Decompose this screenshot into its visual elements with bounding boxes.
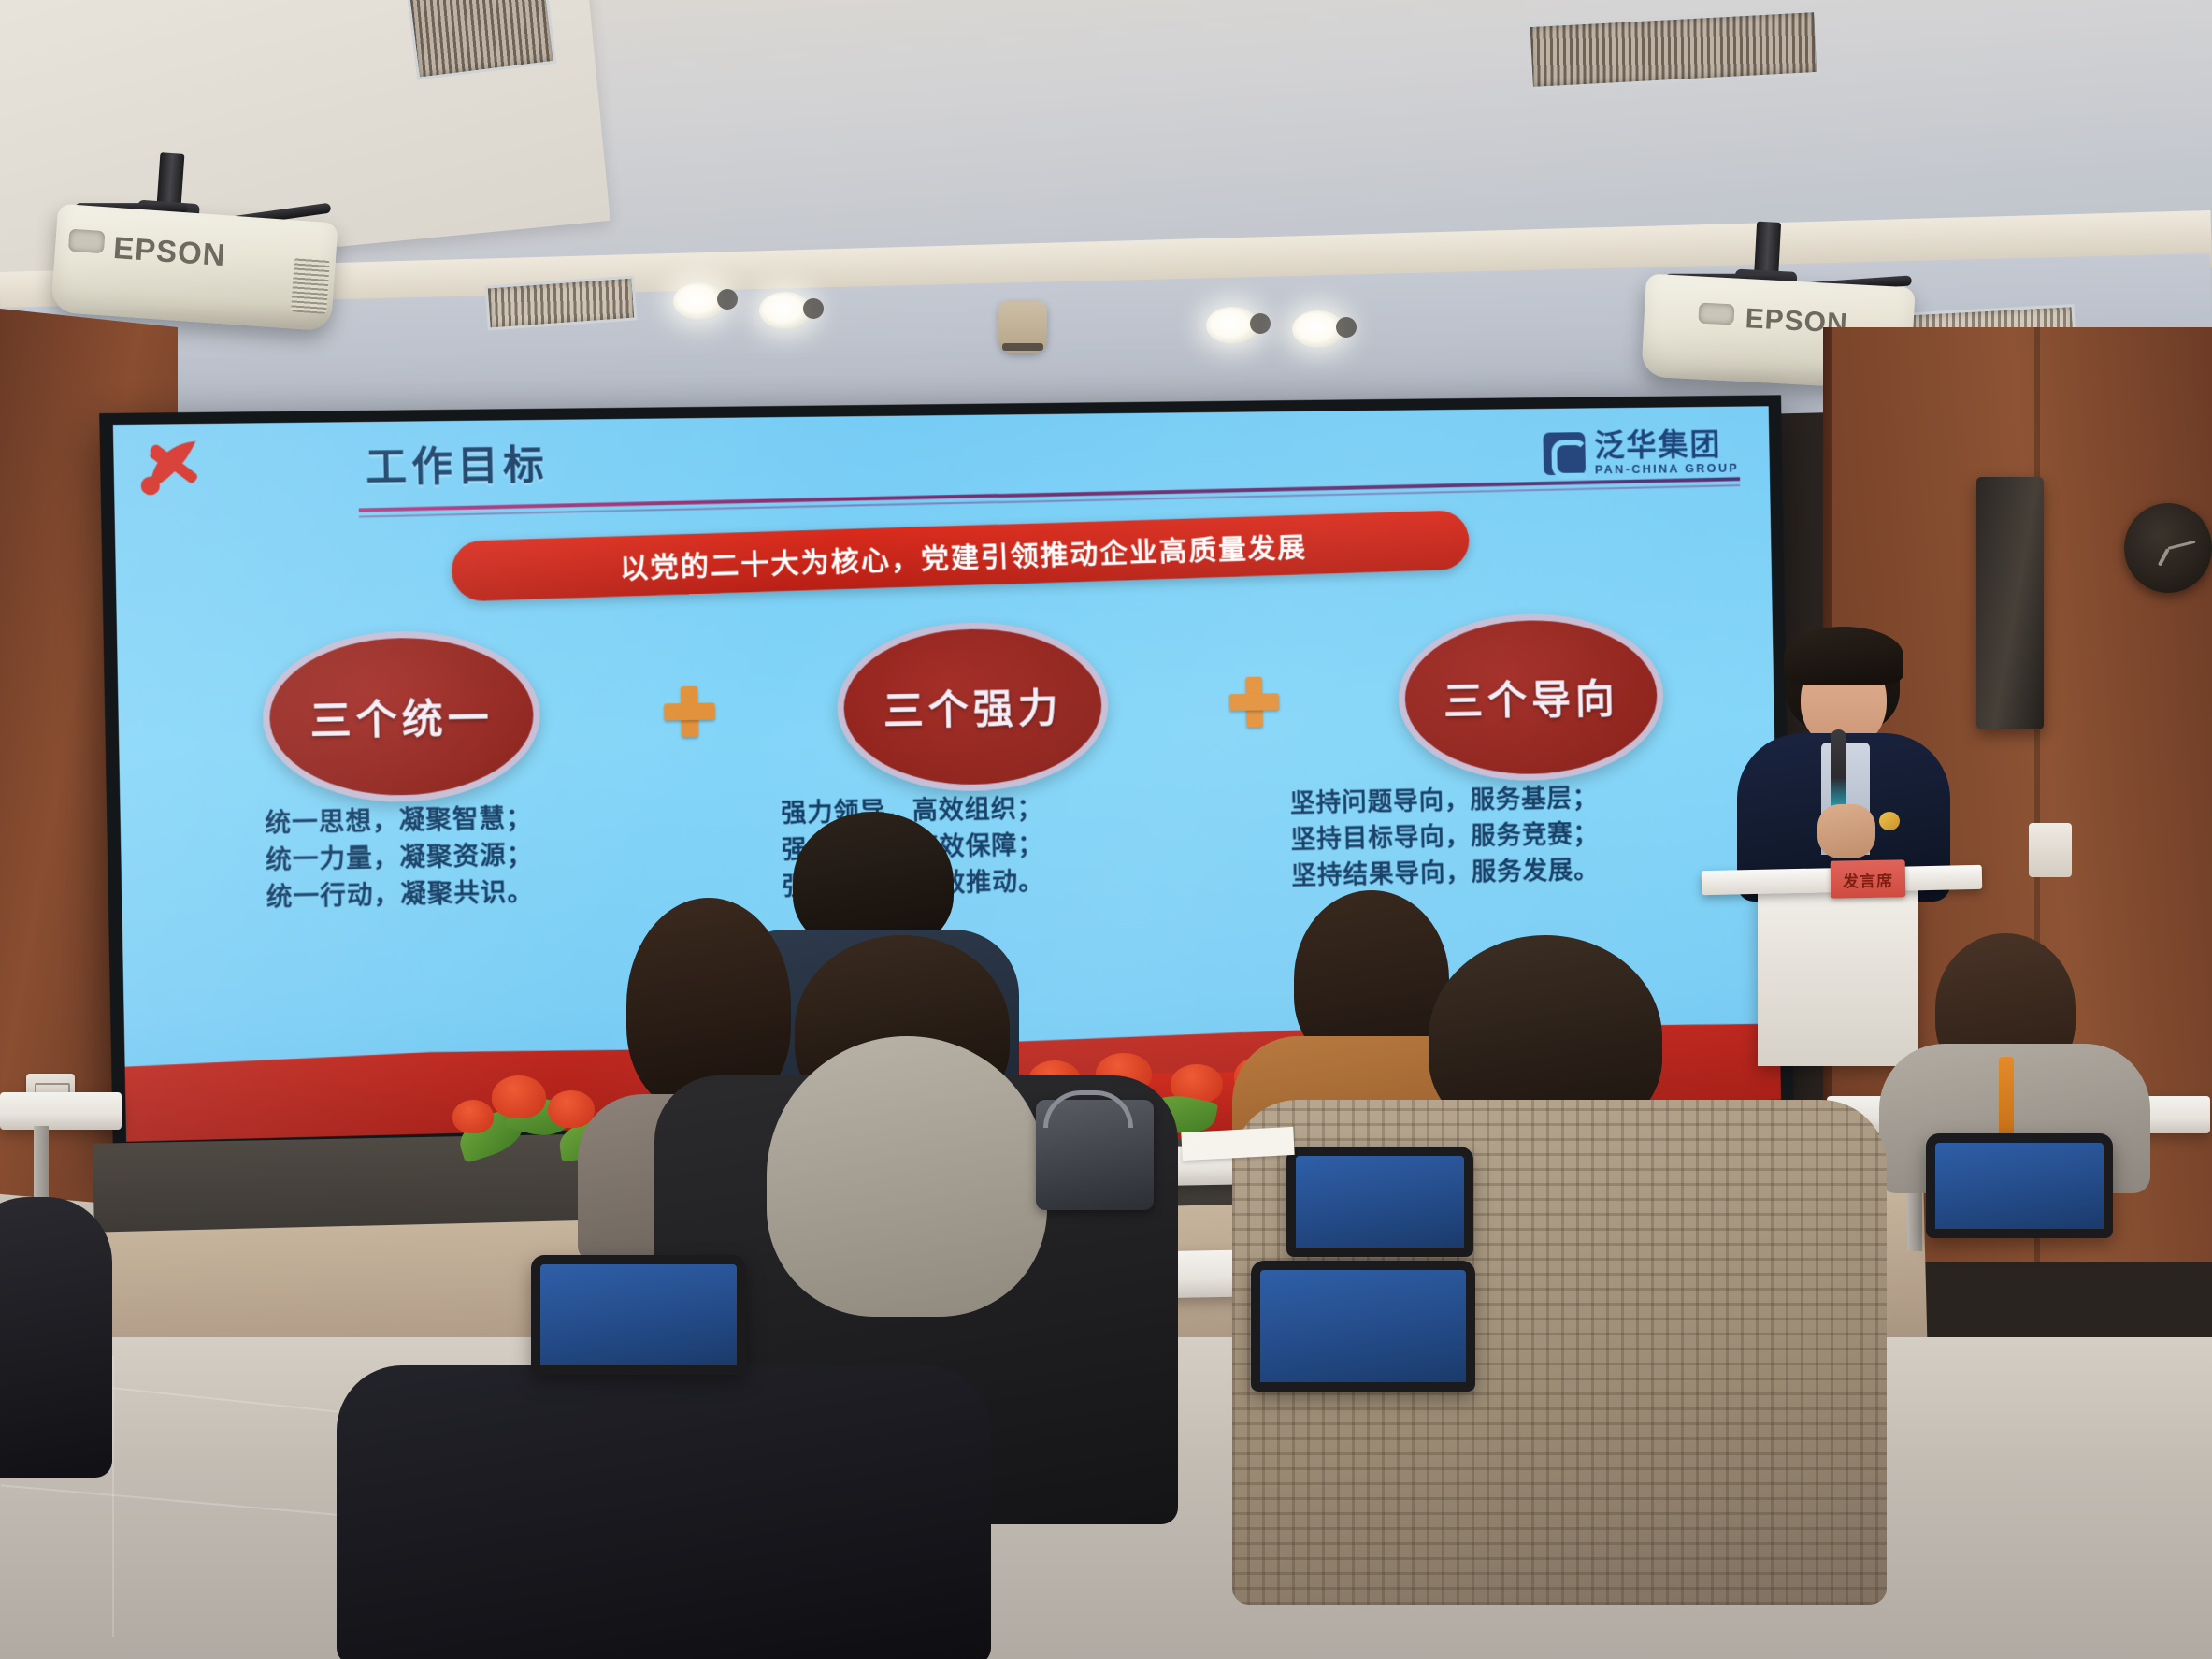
ceiling-vent — [1527, 9, 1819, 90]
lapel-badge-icon — [1879, 812, 1900, 830]
clock-hour-hand — [2158, 548, 2170, 567]
ceiling-spotlight — [673, 282, 725, 320]
podium-sign: 发言席 — [1831, 859, 1906, 898]
wall-clock-icon — [2124, 503, 2212, 593]
group-label: 三个统一 — [309, 685, 494, 747]
slide-ellipse-row: 三个统一 三个强力 三个导向 — [261, 603, 1664, 815]
clock-minute-hand — [2168, 541, 2196, 550]
slide-group-ellipse-1: 三个统一 — [262, 629, 542, 804]
detail-line: 坚持结果导向，服务发展。 — [1291, 851, 1667, 895]
slide-title: 工作目标 — [365, 433, 549, 494]
slide-banner-text: 以党的二十大为核心，党建引领推动企业高质量发展 — [619, 525, 1307, 587]
wall-switch-plate[interactable] — [2029, 823, 2072, 877]
chair — [1926, 1133, 2113, 1238]
slide-group-ellipse-2: 三个强力 — [836, 621, 1110, 794]
hood — [767, 1036, 1047, 1317]
party-emblem-icon — [133, 429, 223, 506]
brand-logo: 泛华集团 PAN-CHINA GROUP — [1544, 428, 1740, 476]
projector-grille — [291, 257, 330, 314]
chair — [1251, 1261, 1475, 1392]
ceiling-spotlight — [1206, 307, 1258, 344]
presenter — [1731, 628, 1956, 890]
paper-document — [1181, 1127, 1294, 1161]
table — [0, 1092, 122, 1130]
plus-icon — [1228, 676, 1279, 728]
brand-name-en: PAN-CHINA GROUP — [1595, 462, 1739, 476]
title-divider-secondary — [359, 484, 1740, 517]
chair — [531, 1255, 746, 1375]
microphone-icon — [1831, 729, 1846, 810]
presenter-hand — [1817, 804, 1875, 858]
brand-text: 泛华集团 PAN-CHINA GROUP — [1594, 428, 1739, 475]
wall-speaker-icon — [1976, 477, 2044, 729]
ceiling-speaker-icon — [998, 301, 1047, 353]
ceiling-spotlight — [1292, 310, 1344, 348]
projector-brand-label: EPSON — [112, 230, 227, 273]
title-divider — [359, 477, 1740, 512]
audience-member — [0, 1197, 112, 1478]
slide-banner: 以党的二十大为核心，党建引领推动企业高质量发展 — [451, 510, 1470, 601]
ceiling-spotlight — [759, 292, 812, 329]
projector-lens — [68, 229, 106, 254]
brand-mark-icon — [1544, 432, 1587, 475]
group-label: 三个强力 — [883, 676, 1063, 737]
detail-column-3: 坚持问题导向，服务基层； 坚持目标导向，服务竞赛； 坚持结果导向，服务发展。 — [1290, 780, 1667, 895]
projector-body: EPSON — [50, 204, 338, 332]
conference-room-scene: EPSON EPSON — [0, 0, 2212, 1659]
audience-member — [337, 1365, 991, 1659]
plus-icon — [663, 685, 715, 737]
group-label: 三个导向 — [1444, 667, 1619, 727]
lanyard-icon — [1999, 1057, 2014, 1143]
brand-name-cn: 泛华集团 — [1594, 428, 1739, 460]
projector-left: EPSON — [50, 204, 338, 332]
chair — [1286, 1147, 1473, 1257]
slide-group-ellipse-3: 三个导向 — [1397, 612, 1664, 783]
podium-sign-text: 发言席 — [1843, 867, 1893, 891]
projector-lens — [1698, 303, 1734, 325]
